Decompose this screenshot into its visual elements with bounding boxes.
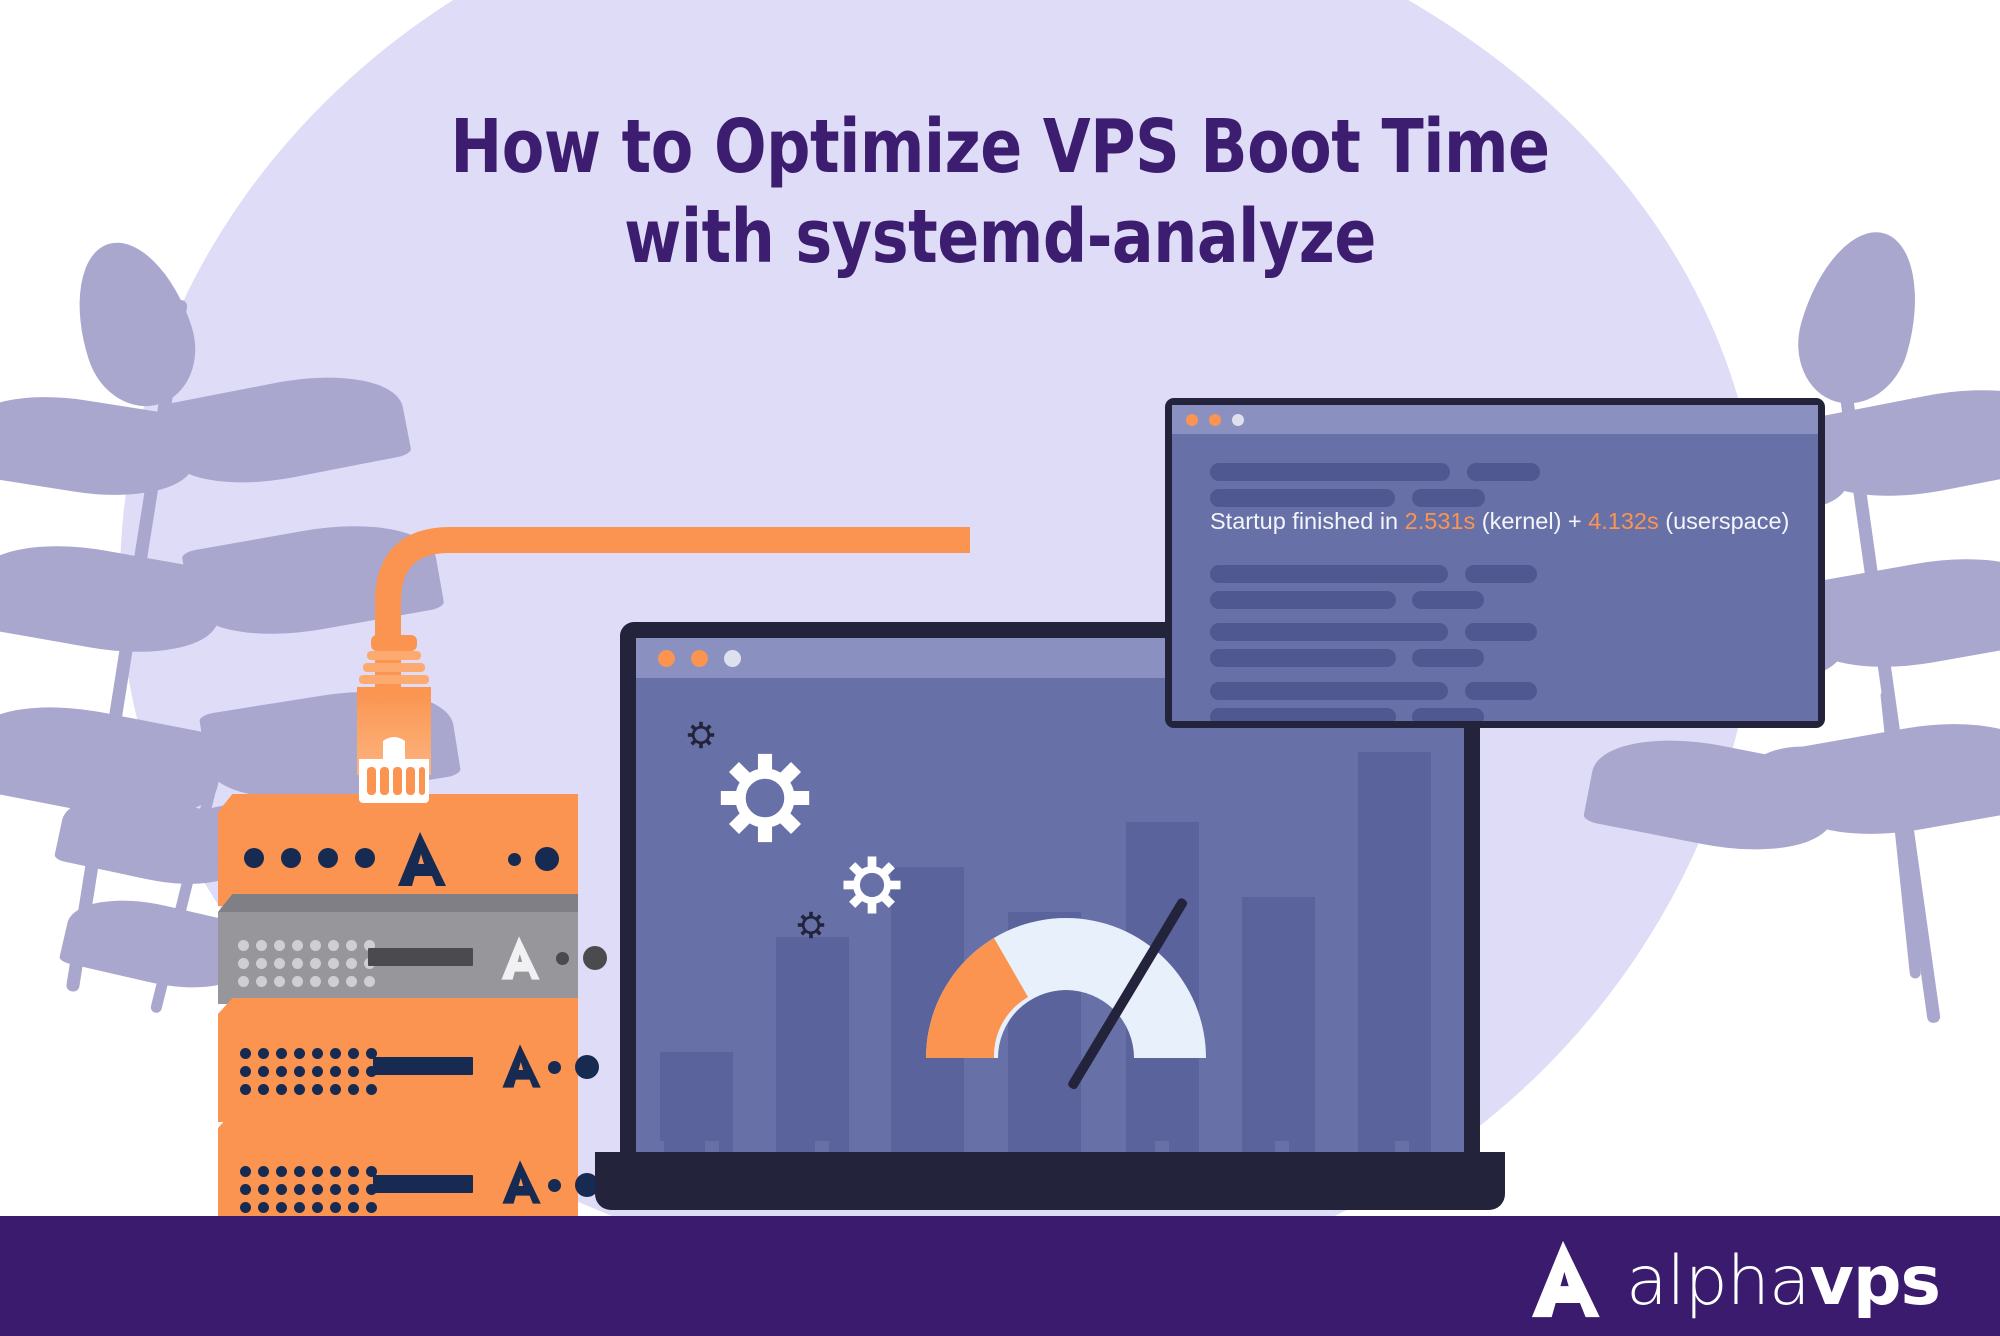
- terminal-output-line: Startup finished in 2.531s (kernel) + 4.…: [1210, 508, 1789, 535]
- terminal-kernel-label: (kernel) +: [1475, 508, 1588, 534]
- chart-bar: [660, 1052, 733, 1152]
- gear-icon-small-bottom: [796, 910, 826, 945]
- traffic-light-close-icon[interactable]: [1186, 414, 1198, 426]
- server-unit[interactable]: [218, 812, 578, 906]
- gear-icon-medium: [841, 853, 903, 922]
- gear-icon-large: [718, 750, 812, 851]
- logo-alpha-text: alpha: [1626, 1242, 1810, 1321]
- decorative-plant-right-small: [1760, 690, 2000, 990]
- terminal-log-placeholder: [1210, 489, 1395, 507]
- chart-bar: [776, 937, 849, 1152]
- page-title-line1: How to Optimize VPS Boot Time: [450, 104, 1549, 190]
- speed-gauge-icon: [866, 858, 1266, 1088]
- terminal-titlebar: [1172, 405, 1818, 434]
- terminal-userspace-time: 4.132s: [1588, 508, 1659, 534]
- alphavps-a-icon: [1518, 1238, 1608, 1325]
- traffic-light-minimize-icon[interactable]: [691, 650, 708, 667]
- chart-bar: [1358, 752, 1431, 1152]
- terminal-log-placeholder: [1465, 623, 1537, 641]
- alphavps-logo[interactable]: alphavps: [1518, 1238, 1940, 1325]
- traffic-light-minimize-icon[interactable]: [1209, 414, 1221, 426]
- server-right-leds: [548, 1173, 599, 1197]
- terminal-log-placeholder: [1210, 682, 1448, 700]
- alphavps-a-icon: [496, 1158, 544, 1206]
- terminal-log-placeholder: [1465, 565, 1537, 583]
- terminal-log-placeholder: [1412, 649, 1484, 667]
- alphavps-a-icon: [390, 830, 450, 888]
- server-unit[interactable]: [218, 912, 578, 1004]
- terminal-screen: Startup finished in 2.531s (kernel) + 4.…: [1172, 405, 1818, 721]
- server-stack: [218, 812, 578, 1278]
- traffic-light-maximize-icon[interactable]: [1232, 414, 1244, 426]
- alphavps-a-icon: [496, 1042, 544, 1090]
- plant-leaf: [158, 360, 412, 500]
- terminal-log-placeholder: [1210, 649, 1396, 667]
- page-title-line2: with systemd-analyze: [70, 192, 1930, 282]
- terminal-log-placeholder: [1210, 623, 1448, 641]
- rj45-connector-icon: [347, 635, 441, 803]
- server-dot-matrix: [240, 1166, 377, 1213]
- traffic-light-maximize-icon[interactable]: [724, 650, 741, 667]
- terminal-log-placeholder: [1412, 708, 1484, 721]
- alphavps-wordmark: alphavps: [1626, 1248, 1940, 1316]
- traffic-light-close-icon[interactable]: [658, 650, 675, 667]
- terminal-log-placeholder: [1412, 591, 1484, 609]
- plant-stem: [1880, 689, 1921, 979]
- server-dot-matrix: [240, 1048, 377, 1095]
- server-front-panel: [218, 912, 578, 1004]
- server-dot-matrix: [238, 940, 375, 987]
- gear-icon-small-top: [686, 720, 716, 755]
- terminal-output-prefix: Startup finished in: [1210, 508, 1405, 534]
- terminal-log-placeholder: [1210, 591, 1396, 609]
- server-drive-slot: [373, 1057, 473, 1075]
- terminal-log-placeholder: [1467, 463, 1540, 481]
- laptop-base: [595, 1152, 1505, 1210]
- terminal-log-placeholder: [1210, 708, 1396, 721]
- server-front-panel: [218, 812, 578, 906]
- terminal-userspace-label: (userspace): [1659, 508, 1790, 534]
- server-drive-slot: [368, 948, 473, 966]
- terminal-kernel-time: 2.531s: [1405, 508, 1476, 534]
- terminal-log-placeholder: [1412, 489, 1485, 507]
- logo-vps-text: vps: [1810, 1242, 1940, 1321]
- server-drive-slot: [373, 1175, 473, 1193]
- server-status-dots: [244, 848, 375, 868]
- server-unit[interactable]: [218, 1014, 578, 1122]
- alphavps-a-icon: [495, 934, 543, 982]
- terminal-log-placeholder: [1210, 565, 1448, 583]
- poster-canvas: How to Optimize VPS Boot Time with syste…: [0, 0, 2000, 1336]
- footer-bar: alphavps: [0, 1216, 2000, 1336]
- server-right-leds: [556, 946, 607, 970]
- terminal-log-placeholder: [1465, 682, 1537, 700]
- server-right-leds: [548, 1055, 599, 1079]
- page-title: How to Optimize VPS Boot Time with syste…: [70, 102, 1930, 283]
- server-right-leds: [508, 847, 559, 871]
- server-front-panel: [218, 1014, 578, 1122]
- terminal-window[interactable]: Startup finished in 2.531s (kernel) + 4.…: [1165, 398, 1825, 728]
- terminal-log-placeholder: [1210, 463, 1450, 481]
